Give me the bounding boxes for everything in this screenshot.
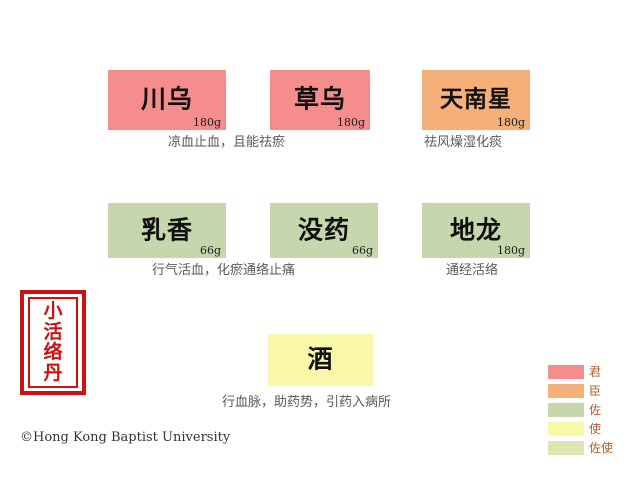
legend-label: 佐使	[589, 442, 613, 454]
herb-box-dilong[interactable]: 地龙 180g	[422, 203, 530, 258]
role-legend: 君 臣 佐 使 佐使	[548, 362, 632, 457]
herb-name: 没药	[270, 217, 378, 242]
legend-label: 佐	[589, 404, 601, 416]
copyright-notice: ©Hong Kong Baptist University	[20, 430, 230, 445]
herb-dose: 180g	[497, 245, 525, 256]
herb-box-jiu[interactable]: 酒	[268, 334, 373, 386]
seal-char: 小	[43, 302, 62, 321]
herb-box-moyao[interactable]: 没药 66g	[270, 203, 378, 258]
herb-name: 酒	[268, 347, 373, 372]
legend-label: 君	[589, 366, 601, 378]
legend-label: 使	[589, 423, 601, 435]
legend-label: 臣	[589, 385, 601, 397]
herb-name: 乳香	[108, 217, 226, 242]
herb-dose: 66g	[352, 245, 373, 256]
legend-swatch-icon	[548, 441, 584, 455]
caption-row2-left: 行气活血，化瘀通络止痛	[152, 264, 295, 277]
herb-name: 草乌	[270, 87, 370, 112]
legend-swatch-icon	[548, 365, 584, 379]
herb-name: 川乌	[108, 87, 226, 112]
seal-char: 丹	[43, 364, 62, 383]
legend-item-assistant-envoy: 佐使	[548, 438, 632, 457]
legend-swatch-icon	[548, 422, 584, 436]
seal-char: 活	[43, 323, 62, 342]
herb-box-tiannanxing[interactable]: 天南星 180g	[422, 70, 530, 130]
legend-swatch-icon	[548, 403, 584, 417]
herb-dose: 180g	[497, 117, 525, 128]
herb-dose: 180g	[193, 117, 221, 128]
herb-dose: 180g	[337, 117, 365, 128]
seal-inner-border: 小 活 络 丹	[28, 297, 78, 388]
caption-row3: 行血脉，助药势，引药入病所	[222, 396, 391, 409]
legend-item-minister: 臣	[548, 381, 632, 400]
legend-item-assistant: 佐	[548, 400, 632, 419]
legend-item-envoy: 使	[548, 419, 632, 438]
caption-row1-left: 凉血止血，且能祛瘀	[168, 136, 285, 149]
herb-dose: 66g	[200, 245, 221, 256]
legend-item-sovereign: 君	[548, 362, 632, 381]
herb-box-ruxiang[interactable]: 乳香 66g	[108, 203, 226, 258]
seal-char: 络	[43, 343, 62, 362]
herb-name: 天南星	[422, 88, 530, 111]
formula-seal: 小 活 络 丹	[20, 290, 86, 395]
legend-swatch-icon	[548, 384, 584, 398]
caption-row2-right: 通经活络	[446, 264, 498, 277]
herb-box-caowu[interactable]: 草乌 180g	[270, 70, 370, 130]
formula-diagram-canvas: 川乌 180g 草乌 180g 天南星 180g 凉血止血，且能祛瘀 祛风燥湿化…	[0, 0, 640, 480]
herb-name: 地龙	[422, 217, 530, 242]
caption-row1-right: 祛风燥湿化痰	[424, 136, 502, 149]
herb-box-chuanwu[interactable]: 川乌 180g	[108, 70, 226, 130]
